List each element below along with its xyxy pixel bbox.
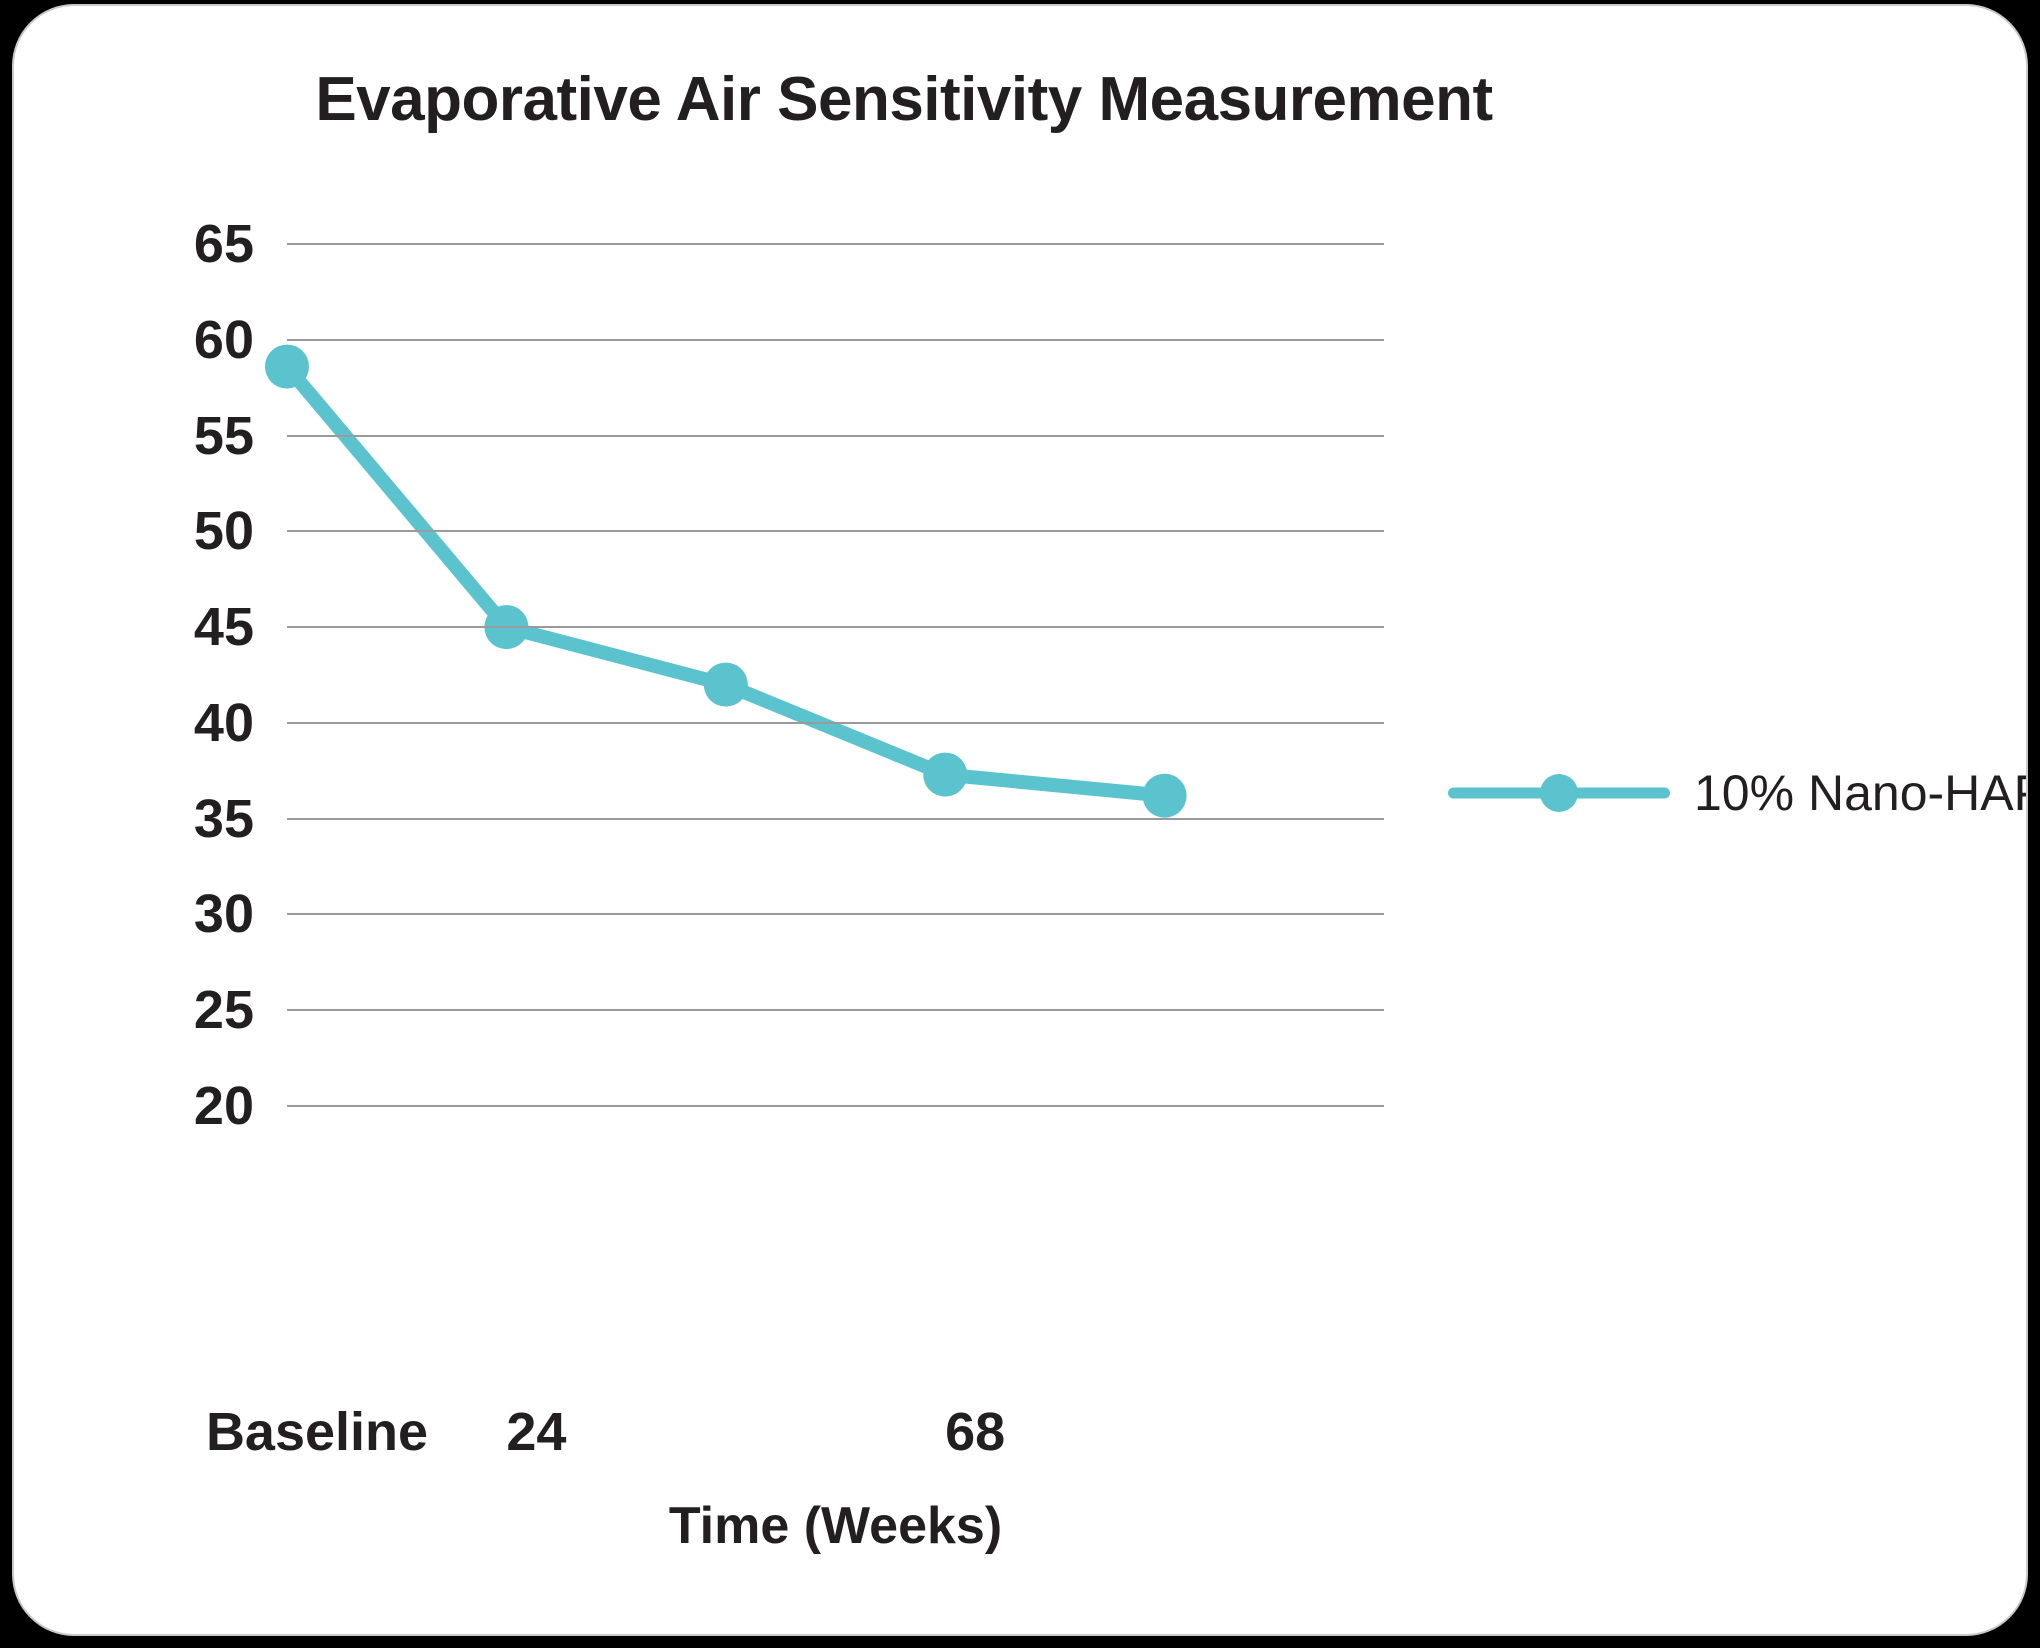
series-line-chart xyxy=(287,244,1384,1106)
y-tick-label: 55 xyxy=(14,405,254,467)
gridline xyxy=(287,1105,1384,1107)
chart-card: Evaporative Air Sensitivity Measurement … xyxy=(12,4,2028,1636)
gridline xyxy=(287,530,1384,532)
y-tick-label: 45 xyxy=(14,596,254,658)
gridline xyxy=(287,626,1384,628)
series-line xyxy=(287,367,1165,796)
x-tick-label: 24 xyxy=(506,1401,566,1463)
y-tick-label: 35 xyxy=(14,788,254,850)
gridline xyxy=(287,1009,1384,1011)
data-point-marker[interactable] xyxy=(923,753,967,797)
y-tick-label: 20 xyxy=(14,1075,254,1137)
y-tick-label: 30 xyxy=(14,883,254,945)
legend-label: 10% Nano-HAP xyxy=(1694,764,2028,822)
y-tick-label: 25 xyxy=(14,979,254,1041)
chart-title: Evaporative Air Sensitivity Measurement xyxy=(14,64,1794,135)
y-tick-label: 40 xyxy=(14,692,254,754)
gridline xyxy=(287,339,1384,341)
data-point-marker[interactable] xyxy=(1143,774,1187,818)
gridline xyxy=(287,913,1384,915)
legend-swatch xyxy=(1448,774,1670,812)
circle-marker-icon xyxy=(1540,774,1578,812)
x-tick-label: Baseline xyxy=(206,1401,428,1463)
chart-legend: 10% Nano-HAP xyxy=(1448,764,2028,822)
data-point-marker[interactable] xyxy=(265,345,309,389)
y-tick-label: 65 xyxy=(14,213,254,275)
y-tick-label: 50 xyxy=(14,500,254,562)
data-point-marker[interactable] xyxy=(704,663,748,707)
y-axis-tick-labels: 65605550454035302520 xyxy=(14,244,254,1106)
plot-area xyxy=(287,244,1384,1106)
x-axis-title: Time (Weeks) xyxy=(287,1496,1384,1556)
gridline xyxy=(287,435,1384,437)
gridline xyxy=(287,243,1384,245)
gridline xyxy=(287,818,1384,820)
gridline xyxy=(287,722,1384,724)
x-tick-label: 68 xyxy=(945,1401,1005,1463)
y-tick-label: 60 xyxy=(14,309,254,371)
x-axis-tick-labels: Baseline2468 xyxy=(14,1401,2028,1481)
